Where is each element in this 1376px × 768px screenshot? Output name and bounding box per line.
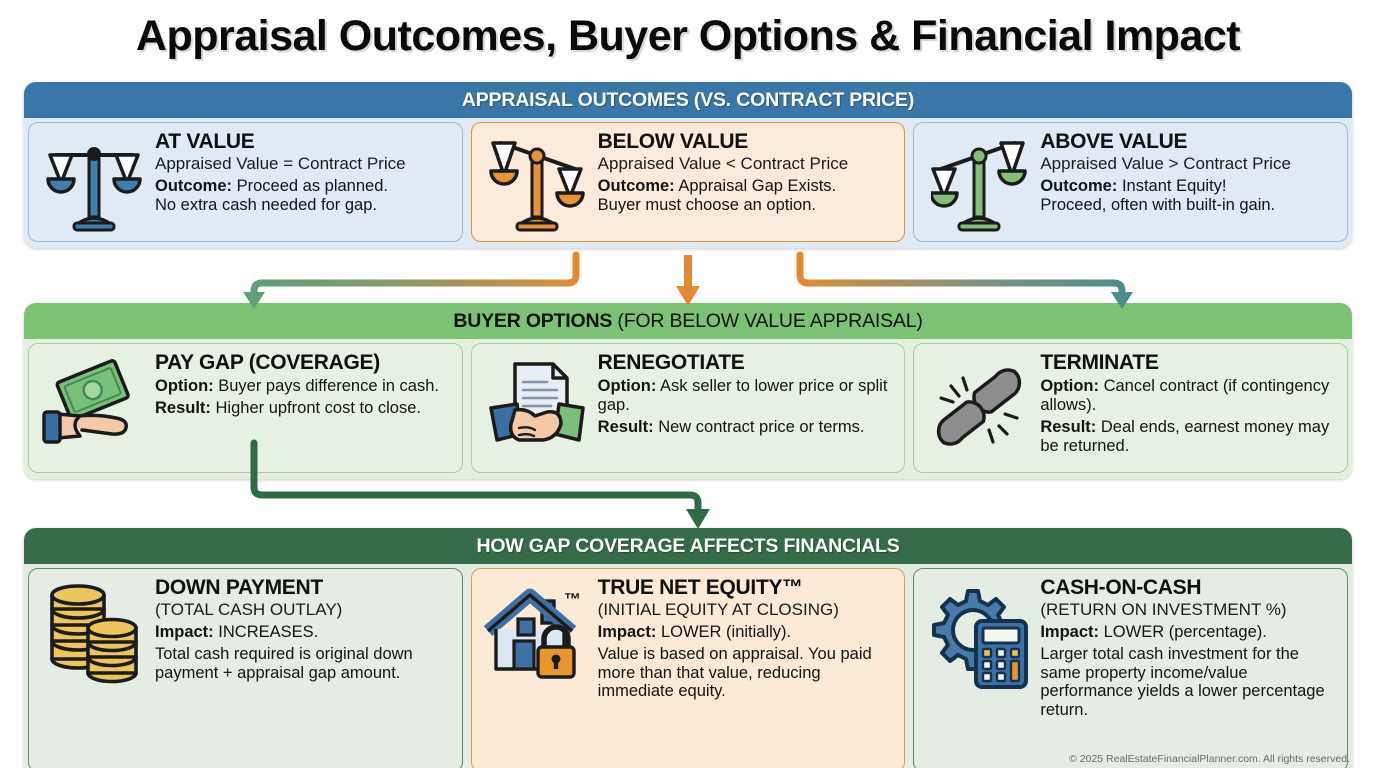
card-title: CASH-ON-CASH xyxy=(1040,577,1339,599)
card-cash-on-cash[interactable]: CASH-ON-CASH (RETURN ON INVESTMENT %) Im… xyxy=(913,568,1348,768)
card-title: TRUE NET EQUITY™ xyxy=(598,577,897,599)
card-detail-line: Outcome: Instant Equity! xyxy=(1040,177,1339,196)
page-title: Appraisal Outcomes, Buyer Options & Fina… xyxy=(0,12,1376,61)
section-header-appraisal-outcomes: APPRAISAL OUTCOMES (VS. CONTRACT PRICE) xyxy=(24,82,1352,118)
card-detail-text: Proceed as planned. xyxy=(237,177,388,195)
hand-cash-icon xyxy=(35,352,153,456)
broken-chain-icon xyxy=(920,352,1038,456)
balance-scale-raised-icon xyxy=(920,131,1038,235)
card-detail-line: Result: Deal ends, earnest money may be … xyxy=(1040,418,1339,456)
coin-stacks-icon xyxy=(35,577,153,691)
card-detail-label: Outcome: xyxy=(1040,177,1117,195)
card-title: ABOVE VALUE xyxy=(1040,131,1339,153)
card-detail-line: Option: Cancel contract (if contingency … xyxy=(1040,377,1339,415)
card-true-net-equity[interactable]: ™ TRUE NET EQUITY™ (I xyxy=(471,568,906,768)
card-text-below-value: BELOW VALUE Appraised Value < Contract P… xyxy=(596,131,897,215)
handshake-document-icon xyxy=(478,352,596,456)
card-detail-text: Instant Equity! xyxy=(1122,177,1227,195)
card-detail-text: LOWER (initially). xyxy=(661,623,791,641)
card-detail-line: Outcome: Proceed as planned. xyxy=(155,177,454,196)
section-buyer-options: BUYER OPTIONS (FOR BELOW VALUE APPRAISAL… xyxy=(24,303,1352,479)
card-detail-line: Impact: INCREASES. xyxy=(155,623,454,642)
card-text-pay-gap: PAY GAP (COVERAGE) Option: Buyer pays di… xyxy=(153,352,454,418)
card-detail-line: Proceed, often with built-in gain. xyxy=(1040,196,1339,215)
card-detail-line: Result: New contract price or terms. xyxy=(598,418,897,437)
card-detail-text: Buyer pays difference in cash. xyxy=(218,377,439,395)
section-header-bold-text: HOW GAP COVERAGE AFFECTS FINANCIALS xyxy=(476,535,899,557)
section-header-bold-text: BUYER OPTIONS xyxy=(453,310,612,332)
card-detail-text: Total cash required is original down pay… xyxy=(155,645,413,682)
card-detail-line: Outcome: Appraisal Gap Exists. xyxy=(598,177,897,196)
section-header-bold-text: APPRAISAL OUTCOMES (VS. CONTRACT PRICE) xyxy=(462,89,914,111)
card-text-down-payment: DOWN PAYMENT (TOTAL CASH OUTLAY) Impact:… xyxy=(153,577,454,682)
card-pay-gap[interactable]: PAY GAP (COVERAGE) Option: Buyer pays di… xyxy=(28,343,463,473)
card-detail-label: Outcome: xyxy=(598,177,675,195)
card-detail-label: Impact: xyxy=(1040,623,1099,641)
svg-text:™: ™ xyxy=(564,590,581,609)
card-above-value[interactable]: ABOVE VALUE Appraised Value > Contract P… xyxy=(913,122,1348,242)
card-detail-label: Result: xyxy=(598,418,654,436)
card-detail-line: Buyer must choose an option. xyxy=(598,196,897,215)
balance-scale-level-icon xyxy=(35,131,153,235)
card-title: DOWN PAYMENT xyxy=(155,577,454,599)
card-subtitle: (INITIAL EQUITY AT CLOSING) xyxy=(598,600,897,620)
card-title: RENEGOTIATE xyxy=(598,352,897,374)
card-title: BELOW VALUE xyxy=(598,131,897,153)
card-text-at-value: AT VALUE Appraised Value = Contract Pric… xyxy=(153,131,454,215)
card-below-value[interactable]: BELOW VALUE Appraised Value < Contract P… xyxy=(471,122,906,242)
section-header-buyer-options: BUYER OPTIONS (FOR BELOW VALUE APPRAISAL… xyxy=(24,303,1352,339)
card-detail-text: Value is based on appraisal. You paid mo… xyxy=(598,645,872,701)
card-detail-line: Option: Ask seller to lower price or spl… xyxy=(598,377,897,415)
arrow-below-to-buyer-options-center xyxy=(676,255,700,306)
card-text-cash-on-cash: CASH-ON-CASH (RETURN ON INVESTMENT %) Im… xyxy=(1038,577,1339,720)
card-detail-text: New contract price or terms. xyxy=(658,418,864,436)
card-detail-text: Proceed, often with built-in gain. xyxy=(1040,196,1275,214)
card-text-above-value: ABOVE VALUE Appraised Value > Contract P… xyxy=(1038,131,1339,215)
card-detail-label: Impact: xyxy=(598,623,657,641)
card-detail-label: Option: xyxy=(155,377,214,395)
balance-scale-tipped-icon xyxy=(478,131,596,235)
card-detail-text: Higher upfront cost to close. xyxy=(216,399,421,417)
card-terminate[interactable]: TERMINATE Option: Cancel contract (if co… xyxy=(913,343,1348,473)
card-title: PAY GAP (COVERAGE) xyxy=(155,352,454,374)
card-subtitle: Appraised Value > Contract Price xyxy=(1040,154,1339,174)
card-at-value[interactable]: AT VALUE Appraised Value = Contract Pric… xyxy=(28,122,463,242)
card-subtitle: Appraised Value = Contract Price xyxy=(155,154,454,174)
card-detail-line: Impact: LOWER (initially). xyxy=(598,623,897,642)
card-detail-line: Total cash required is original down pay… xyxy=(155,645,454,683)
card-detail-label: Option: xyxy=(1040,377,1099,395)
card-text-terminate: TERMINATE Option: Cancel contract (if co… xyxy=(1038,352,1339,455)
card-renegotiate[interactable]: RENEGOTIATE Option: Ask seller to lower … xyxy=(471,343,906,473)
card-detail-text: Larger total cash investment for the sam… xyxy=(1040,645,1324,719)
card-detail-line: Larger total cash investment for the sam… xyxy=(1040,645,1339,720)
card-detail-label: Option: xyxy=(598,377,657,395)
copyright-footer: © 2025 RealEstateFinancialPlanner.com. A… xyxy=(1069,753,1350,765)
card-detail-line: Option: Buyer pays difference in cash. xyxy=(155,377,454,396)
section-gap-coverage-financials: HOW GAP COVERAGE AFFECTS FINANCIALS xyxy=(24,528,1352,768)
card-detail-line: No extra cash needed for gap. xyxy=(155,196,454,215)
section-appraisal-outcomes: APPRAISAL OUTCOMES (VS. CONTRACT PRICE) xyxy=(24,82,1352,248)
section-header-sub-text: (FOR BELOW VALUE APPRAISAL) xyxy=(612,310,922,332)
card-subtitle: Appraised Value < Contract Price xyxy=(598,154,897,174)
gear-calculator-icon xyxy=(920,577,1038,691)
card-subtitle: (RETURN ON INVESTMENT %) xyxy=(1040,600,1339,620)
card-title: AT VALUE xyxy=(155,131,454,153)
house-lock-icon: ™ xyxy=(478,577,596,691)
card-text-renegotiate: RENEGOTIATE Option: Ask seller to lower … xyxy=(596,352,897,437)
card-detail-label: Result: xyxy=(1040,418,1096,436)
card-detail-line: Impact: LOWER (percentage). xyxy=(1040,623,1339,642)
section-header-gap-coverage-financials: HOW GAP COVERAGE AFFECTS FINANCIALS xyxy=(24,528,1352,564)
card-title: TERMINATE xyxy=(1040,352,1339,374)
card-subtitle: (TOTAL CASH OUTLAY) xyxy=(155,600,454,620)
card-text-true-net-equity: TRUE NET EQUITY™ (INITIAL EQUITY AT CLOS… xyxy=(596,577,897,701)
card-detail-text: LOWER (percentage). xyxy=(1104,623,1267,641)
card-detail-text: Buyer must choose an option. xyxy=(598,196,816,214)
arrow-below-to-buyer-options-left xyxy=(243,255,576,309)
card-detail-line: Value is based on appraisal. You paid mo… xyxy=(598,645,897,701)
card-detail-text: Appraisal Gap Exists. xyxy=(678,177,836,195)
card-detail-text: INCREASES. xyxy=(218,623,318,641)
card-down-payment[interactable]: DOWN PAYMENT (TOTAL CASH OUTLAY) Impact:… xyxy=(28,568,463,768)
card-detail-label: Result: xyxy=(155,399,211,417)
infographic-page: Appraisal Outcomes, Buyer Options & Fina… xyxy=(0,0,1376,768)
card-detail-text: No extra cash needed for gap. xyxy=(155,196,377,214)
arrow-below-to-buyer-options-right xyxy=(800,255,1133,309)
card-detail-label: Outcome: xyxy=(155,177,232,195)
card-detail-line: Result: Higher upfront cost to close. xyxy=(155,399,454,418)
card-detail-label: Impact: xyxy=(155,623,214,641)
